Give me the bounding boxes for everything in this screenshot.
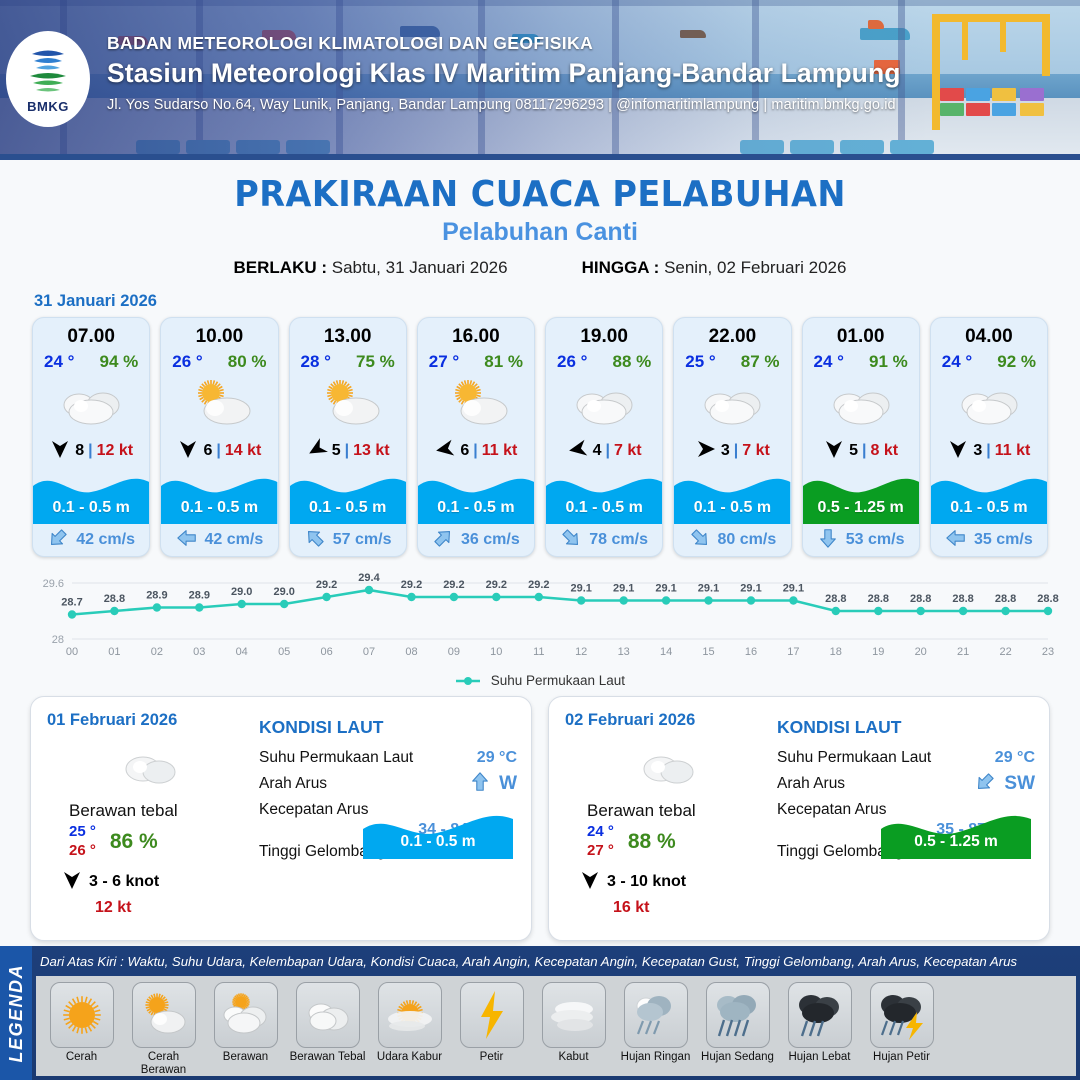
svg-text:02: 02 xyxy=(151,646,163,658)
thunderstorm-icon xyxy=(870,982,934,1048)
weather-condition-icon xyxy=(546,372,662,434)
svg-text:29.1: 29.1 xyxy=(698,583,719,595)
wind-speed: 5 xyxy=(332,442,341,460)
validity-row: BERLAKU : Sabtu, 31 Januari 2026 HINGGA … xyxy=(0,258,1080,278)
sst-chart: 29.62828.70028.80128.90228.90329.00429.0… xyxy=(20,567,1060,677)
current-speed: 53 cm/s xyxy=(846,531,905,549)
legend-item-label: Berawan Tebal xyxy=(288,1051,367,1064)
current-speed-label: Kecepatan Arus xyxy=(777,801,886,819)
legend-items: CerahCerah BerawanBerawanBerawan TebalUd… xyxy=(36,976,1076,1076)
sst-value: 29 °C xyxy=(995,749,1035,767)
wind-gust: 11 kt xyxy=(995,442,1031,460)
svg-text:19: 19 xyxy=(872,646,884,658)
legend-item-label: Cerah Berawan xyxy=(124,1051,203,1076)
current-speed: 80 cm/s xyxy=(718,531,777,549)
svg-text:29.2: 29.2 xyxy=(401,579,422,591)
wind-direction-icon xyxy=(823,438,845,465)
current-direction-icon xyxy=(560,527,582,554)
legend-item-label: Udara Kabur xyxy=(370,1051,449,1064)
current-speed-label: Kecepatan Arus xyxy=(259,801,368,819)
daily-forecast-card: 01 Februari 2026Berawan tebal25 °26 °86 … xyxy=(30,696,532,941)
station-contact: Jl. Yos Sudarso No.64, Way Lunik, Panjan… xyxy=(107,97,1072,113)
daily-forecast-card: 02 Februari 2026Berawan tebal24 °27 °88 … xyxy=(548,696,1050,941)
hourly-humidity: 87 % xyxy=(741,352,780,372)
sst-label: Suhu Permukaan Laut xyxy=(777,749,931,767)
svg-text:29.6: 29.6 xyxy=(43,578,64,590)
legend-item: Hujan Lebat xyxy=(780,982,859,1064)
sst-value: 29 °C xyxy=(477,749,517,767)
daily-temp-max: 27 ° xyxy=(587,842,614,861)
wind-separator: | xyxy=(473,442,477,460)
wind-gust: 7 kt xyxy=(614,442,642,460)
svg-text:04: 04 xyxy=(236,646,248,658)
svg-text:05: 05 xyxy=(278,646,290,658)
wave-height-band: 0.1 - 0.5 m xyxy=(161,468,277,524)
svg-text:18: 18 xyxy=(830,646,842,658)
hourly-time: 01.00 xyxy=(803,318,919,348)
hourly-temperature: 27 ° xyxy=(429,352,459,372)
legend-item: Kabut xyxy=(534,982,613,1064)
daily-current-direction: SW xyxy=(1004,773,1035,795)
wind-direction-icon xyxy=(947,438,969,465)
daily-wind-range: 3 - 6 knot xyxy=(89,873,159,891)
hourly-time: 22.00 xyxy=(674,318,790,348)
wind-direction-icon xyxy=(306,438,328,465)
daily-wave-value: 0.1 - 0.5 m xyxy=(363,833,513,851)
current-direction-label: Arah Arus xyxy=(259,775,327,793)
legend-item-label: Hujan Petir xyxy=(862,1051,941,1064)
svg-text:29.2: 29.2 xyxy=(486,579,507,591)
wind-speed: 3 xyxy=(973,442,982,460)
svg-text:29.1: 29.1 xyxy=(740,583,761,595)
current-direction-icon xyxy=(47,527,69,554)
daily-wind-range: 3 - 10 knot xyxy=(607,873,686,891)
svg-text:28.8: 28.8 xyxy=(952,593,973,605)
daily-summary-row: 01 Februari 2026Berawan tebal25 °26 °86 … xyxy=(0,688,1080,941)
bmkg-logo-mark xyxy=(22,44,74,96)
wind-speed: 4 xyxy=(593,442,602,460)
valid-to-label: HINGGA : xyxy=(582,258,660,277)
legend-item: Berawan xyxy=(206,982,285,1064)
svg-text:29.2: 29.2 xyxy=(528,579,549,591)
wave-height-band: 0.1 - 0.5 m xyxy=(546,468,662,524)
cloud-sun-small-icon xyxy=(214,982,278,1048)
wave-height-band: 0.1 - 0.5 m xyxy=(290,468,406,524)
svg-text:00: 00 xyxy=(66,646,78,658)
wind-speed: 5 xyxy=(849,442,858,460)
hourly-forecast-row: 07.0024 °94 %8|12 kt0.1 - 0.5 m42 cm/s10… xyxy=(0,317,1080,557)
hourly-card: 01.0024 °91 %5|8 kt0.5 - 1.25 m53 cm/s xyxy=(802,317,920,557)
sun-cloud-icon xyxy=(132,982,196,1048)
heavy-rain-icon xyxy=(788,982,852,1048)
svg-text:22: 22 xyxy=(999,646,1011,658)
wind-separator: | xyxy=(216,442,220,460)
svg-text:29.1: 29.1 xyxy=(655,583,676,595)
weather-condition-icon xyxy=(161,372,277,434)
sst-label: Suhu Permukaan Laut xyxy=(259,749,413,767)
wind-direction-icon xyxy=(177,438,199,465)
wave-height-band: 0.1 - 0.5 m xyxy=(674,468,790,524)
daily-wave-band: 0.1 - 0.5 m xyxy=(363,807,513,859)
current-speed: 57 cm/s xyxy=(333,531,392,549)
svg-text:29.2: 29.2 xyxy=(443,579,464,591)
svg-text:29.0: 29.0 xyxy=(231,586,252,598)
agency-name: BADAN METEOROLOGI KLIMATOLOGI DAN GEOFIS… xyxy=(107,33,1072,54)
hourly-card: 07.0024 °94 %8|12 kt0.1 - 0.5 m42 cm/s xyxy=(32,317,150,557)
svg-text:03: 03 xyxy=(193,646,205,658)
svg-text:28: 28 xyxy=(52,634,64,646)
wind-speed: 6 xyxy=(460,442,469,460)
svg-text:28.8: 28.8 xyxy=(104,593,125,605)
daily-wind-gust: 16 kt xyxy=(569,899,769,917)
wave-height-value: 0.5 - 1.25 m xyxy=(803,499,919,517)
hourly-humidity: 81 % xyxy=(484,352,523,372)
valid-from-value: Sabtu, 31 Januari 2026 xyxy=(332,258,508,277)
wind-separator: | xyxy=(606,442,610,460)
legend-marker-icon xyxy=(455,676,481,686)
hourly-humidity: 91 % xyxy=(869,352,908,372)
svg-text:28.9: 28.9 xyxy=(146,590,167,602)
svg-text:29.1: 29.1 xyxy=(783,583,804,595)
wind-gust: 14 kt xyxy=(225,442,261,460)
svg-text:13: 13 xyxy=(618,646,630,658)
hourly-humidity: 88 % xyxy=(613,352,652,372)
legend-item: Cerah xyxy=(42,982,121,1064)
moderate-rain-icon xyxy=(706,982,770,1048)
daily-wind-direction-icon xyxy=(61,869,83,896)
bmkg-logo: BMKG xyxy=(6,31,90,127)
weather-condition-icon xyxy=(674,372,790,434)
current-direction-icon xyxy=(689,527,711,554)
daily-condition: Berawan tebal xyxy=(569,801,769,821)
hourly-time: 19.00 xyxy=(546,318,662,348)
svg-text:28.8: 28.8 xyxy=(995,593,1016,605)
svg-text:28.9: 28.9 xyxy=(189,590,210,602)
wind-gust: 13 kt xyxy=(353,442,389,460)
hourly-card: 10.0026 °80 %6|14 kt0.1 - 0.5 m42 cm/s xyxy=(160,317,278,557)
wind-gust: 8 kt xyxy=(871,442,899,460)
current-speed: 78 cm/s xyxy=(589,531,648,549)
hourly-humidity: 80 % xyxy=(228,352,267,372)
svg-text:20: 20 xyxy=(915,646,927,658)
svg-text:01: 01 xyxy=(108,646,120,658)
wave-height-band: 0.5 - 1.25 m xyxy=(803,468,919,524)
hourly-card: 04.0024 °92 %3|11 kt0.1 - 0.5 m35 cm/s xyxy=(930,317,1048,557)
hourly-card: 16.0027 °81 %6|11 kt0.1 - 0.5 m36 cm/s xyxy=(417,317,535,557)
svg-text:29.0: 29.0 xyxy=(273,586,294,598)
svg-text:10: 10 xyxy=(490,646,502,658)
wave-height-value: 0.1 - 0.5 m xyxy=(161,499,277,517)
svg-text:28.8: 28.8 xyxy=(910,593,931,605)
hourly-time: 04.00 xyxy=(931,318,1047,348)
wind-speed: 8 xyxy=(75,442,84,460)
sun-icon xyxy=(50,982,114,1048)
wind-gust: 7 kt xyxy=(742,442,770,460)
svg-text:28.7: 28.7 xyxy=(61,597,82,609)
daily-temp-min: 24 ° xyxy=(587,823,614,842)
hourly-temperature: 25 ° xyxy=(685,352,715,372)
svg-text:28.8: 28.8 xyxy=(868,593,889,605)
wind-speed: 3 xyxy=(721,442,730,460)
daily-wave-value: 0.5 - 1.25 m xyxy=(881,833,1031,851)
daily-humidity: 86 % xyxy=(110,830,158,854)
svg-text:17: 17 xyxy=(787,646,799,658)
hourly-date-label: 31 Januari 2026 xyxy=(34,292,1080,311)
hourly-card: 19.0026 °88 %4|7 kt0.1 - 0.5 m78 cm/s xyxy=(545,317,663,557)
sea-condition-title: KONDISI LAUT xyxy=(777,717,1035,738)
legend-panel: LEGENDA Dari Atas Kiri : Waktu, Suhu Uda… xyxy=(0,946,1080,1080)
current-speed: 36 cm/s xyxy=(461,531,520,549)
wind-direction-icon xyxy=(49,438,71,465)
current-direction-icon xyxy=(432,527,454,554)
daily-temp-min: 25 ° xyxy=(69,823,96,842)
svg-text:21: 21 xyxy=(957,646,969,658)
weather-condition-icon xyxy=(33,372,149,434)
daily-wave-band: 0.5 - 1.25 m xyxy=(881,807,1031,859)
daily-current-direction-icon xyxy=(469,771,491,798)
wave-height-value: 0.1 - 0.5 m xyxy=(418,499,534,517)
svg-text:12: 12 xyxy=(575,646,587,658)
page-header: BMKG BADAN METEOROLOGI KLIMATOLOGI DAN G… xyxy=(0,0,1080,160)
svg-text:28.8: 28.8 xyxy=(1037,593,1058,605)
daily-wind-direction-icon xyxy=(579,869,601,896)
wave-height-value: 0.1 - 0.5 m xyxy=(546,499,662,517)
wave-height-value: 0.1 - 0.5 m xyxy=(931,499,1047,517)
legend-sidebar: LEGENDA xyxy=(0,946,32,1080)
haze-icon xyxy=(378,982,442,1048)
wind-separator: | xyxy=(734,442,738,460)
legend-item: Petir xyxy=(452,982,531,1064)
legend-item-label: Hujan Sedang xyxy=(698,1051,777,1064)
current-direction-icon xyxy=(817,527,839,554)
svg-text:07: 07 xyxy=(363,646,375,658)
legend-item-label: Petir xyxy=(452,1051,531,1064)
fog-icon xyxy=(542,982,606,1048)
legend-item: Hujan Sedang xyxy=(698,982,777,1064)
svg-text:29.1: 29.1 xyxy=(570,583,591,595)
svg-text:14: 14 xyxy=(660,646,672,658)
hourly-card: 13.0028 °75 %5|13 kt0.1 - 0.5 m57 cm/s xyxy=(289,317,407,557)
weather-condition-icon xyxy=(931,372,1047,434)
current-speed: 35 cm/s xyxy=(974,531,1033,549)
hourly-temperature: 24 ° xyxy=(814,352,844,372)
svg-text:28.8: 28.8 xyxy=(825,593,846,605)
weather-condition-icon xyxy=(418,372,534,434)
legend-item-label: Cerah xyxy=(42,1051,121,1064)
hourly-humidity: 94 % xyxy=(100,352,139,372)
hourly-humidity: 92 % xyxy=(997,352,1036,372)
wind-direction-icon xyxy=(567,438,589,465)
daily-current-direction-icon xyxy=(974,771,996,798)
wave-height-band: 0.1 - 0.5 m xyxy=(33,468,149,524)
hourly-temperature: 26 ° xyxy=(557,352,587,372)
hourly-temperature: 24 ° xyxy=(942,352,972,372)
hourly-temperature: 28 ° xyxy=(301,352,331,372)
current-direction-icon xyxy=(176,527,198,554)
wave-height-band: 0.1 - 0.5 m xyxy=(418,468,534,524)
weather-condition-icon xyxy=(803,372,919,434)
wind-separator: | xyxy=(345,442,349,460)
current-speed: 42 cm/s xyxy=(205,531,264,549)
legend-item: Cerah Berawan xyxy=(124,982,203,1076)
valid-to-value: Senin, 02 Februari 2026 xyxy=(664,258,846,277)
hourly-time: 10.00 xyxy=(161,318,277,348)
hourly-temperature: 26 ° xyxy=(172,352,202,372)
cloud-thick-icon xyxy=(296,982,360,1048)
legend-item: Hujan Petir xyxy=(862,982,941,1064)
daily-weather-icon xyxy=(569,739,769,795)
wave-height-value: 0.1 - 0.5 m xyxy=(33,499,149,517)
wind-gust: 12 kt xyxy=(97,442,133,460)
station-name: Stasiun Meteorologi Klas IV Maritim Panj… xyxy=(107,58,1072,89)
daily-weather-icon xyxy=(51,739,251,795)
legend-item-label: Berawan xyxy=(206,1051,285,1064)
legend-item: Udara Kabur xyxy=(370,982,449,1064)
hourly-humidity: 75 % xyxy=(356,352,395,372)
sea-condition-title: KONDISI LAUT xyxy=(259,717,517,738)
svg-text:29.4: 29.4 xyxy=(358,572,380,584)
daily-temp-max: 26 ° xyxy=(69,842,96,861)
page-title: PRAKIRAAN CUACA PELABUHAN xyxy=(38,174,1042,215)
legend-note: Dari Atas Kiri : Waktu, Suhu Udara, Kele… xyxy=(40,954,1076,969)
wave-height-band: 0.1 - 0.5 m xyxy=(931,468,1047,524)
svg-text:15: 15 xyxy=(702,646,714,658)
current-speed: 42 cm/s xyxy=(76,531,135,549)
legend-item-label: Hujan Lebat xyxy=(780,1051,859,1064)
svg-text:16: 16 xyxy=(745,646,757,658)
wind-gust: 11 kt xyxy=(482,442,518,460)
title-block: PRAKIRAAN CUACA PELABUHAN Pelabuhan Cant… xyxy=(0,174,1080,278)
legend-item: Berawan Tebal xyxy=(288,982,367,1064)
svg-text:06: 06 xyxy=(320,646,332,658)
wind-separator: | xyxy=(986,442,990,460)
hourly-time: 13.00 xyxy=(290,318,406,348)
lightning-icon xyxy=(460,982,524,1048)
wave-height-value: 0.1 - 0.5 m xyxy=(674,499,790,517)
wind-separator: | xyxy=(862,442,866,460)
weather-condition-icon xyxy=(290,372,406,434)
wind-speed: 6 xyxy=(203,442,212,460)
valid-from-label: BERLAKU : xyxy=(234,258,328,277)
hourly-time: 07.00 xyxy=(33,318,149,348)
daily-humidity: 88 % xyxy=(628,830,676,854)
hourly-time: 16.00 xyxy=(418,318,534,348)
bmkg-logo-text: BMKG xyxy=(27,99,69,114)
svg-text:09: 09 xyxy=(448,646,460,658)
wind-direction-icon xyxy=(434,438,456,465)
daily-condition: Berawan tebal xyxy=(51,801,251,821)
legend-sidebar-title: LEGENDA xyxy=(6,964,27,1063)
wind-separator: | xyxy=(88,442,92,460)
svg-text:29.1: 29.1 xyxy=(613,583,634,595)
svg-text:08: 08 xyxy=(405,646,417,658)
current-direction-icon xyxy=(945,527,967,554)
svg-text:29.2: 29.2 xyxy=(316,579,337,591)
daily-wind-gust: 12 kt xyxy=(51,899,251,917)
current-direction-icon xyxy=(304,527,326,554)
hourly-temperature: 24 ° xyxy=(44,352,74,372)
wave-height-value: 0.1 - 0.5 m xyxy=(290,499,406,517)
light-rain-icon xyxy=(624,982,688,1048)
port-name: Pelabuhan Canti xyxy=(0,218,1080,247)
svg-text:23: 23 xyxy=(1042,646,1054,658)
valid-from: BERLAKU : Sabtu, 31 Januari 2026 xyxy=(234,258,508,278)
legend-item: Hujan Ringan xyxy=(616,982,695,1064)
legend-item-label: Kabut xyxy=(534,1051,613,1064)
daily-current-direction: W xyxy=(499,773,517,795)
wind-direction-icon xyxy=(695,438,717,465)
legend-item-label: Hujan Ringan xyxy=(616,1051,695,1064)
svg-text:11: 11 xyxy=(533,646,544,658)
current-direction-label: Arah Arus xyxy=(777,775,845,793)
valid-to: HINGGA : Senin, 02 Februari 2026 xyxy=(582,258,847,278)
hourly-card: 22.0025 °87 %3|7 kt0.1 - 0.5 m80 cm/s xyxy=(673,317,791,557)
